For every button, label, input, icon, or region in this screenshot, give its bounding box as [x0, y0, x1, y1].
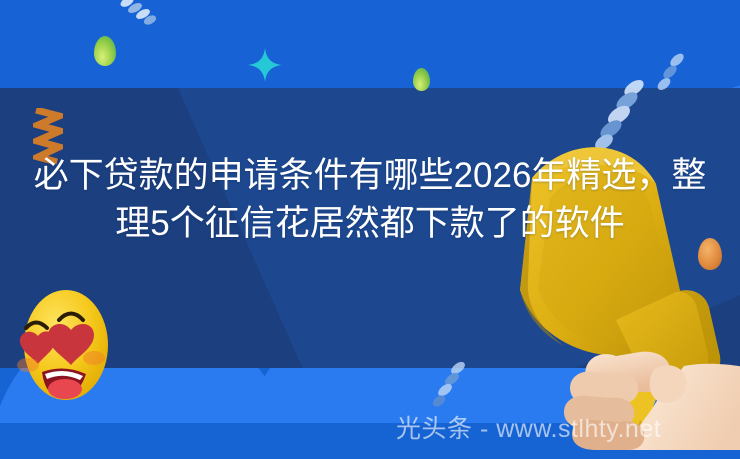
heart-eyes-emoji-icon [14, 286, 118, 404]
poster-canvas: 必下贷款的申请条件有哪些2026年精选，整理5个征信花居然都下款了的软件 光头条… [0, 0, 740, 459]
watermark-text: 光头条 - www.stlhty.net [396, 414, 661, 444]
page-title: 必下贷款的申请条件有哪些2026年精选，整理5个征信花居然都下款了的软件 [28, 152, 712, 248]
